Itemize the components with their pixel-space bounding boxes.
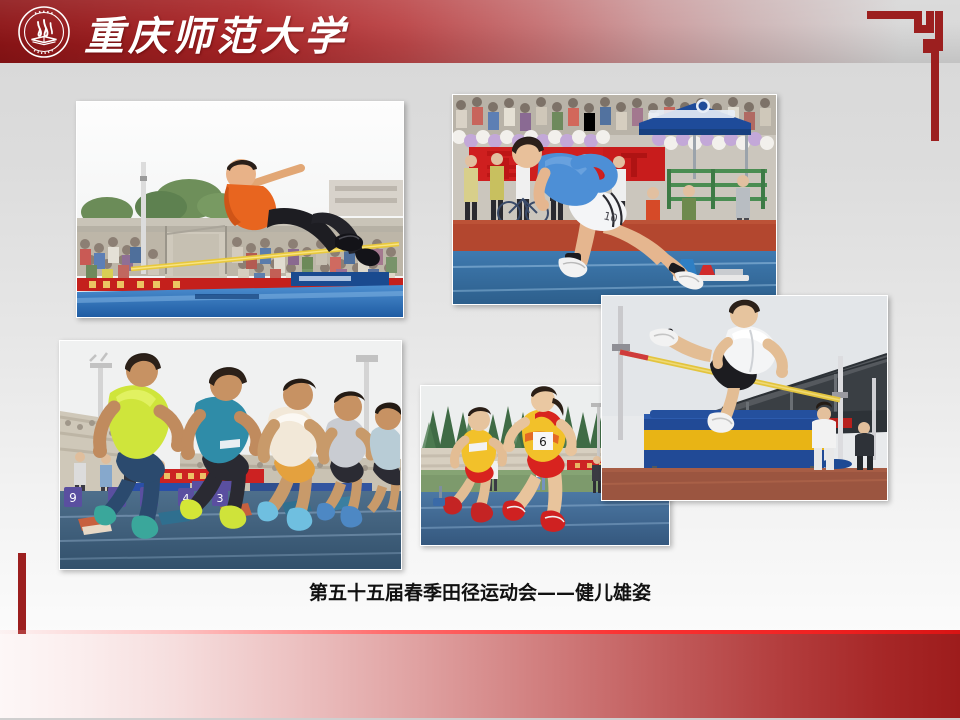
chinese-meander-corner-top-right — [867, 11, 943, 145]
svg-text:6: 6 — [539, 435, 547, 449]
photo-high-jump-white[interactable] — [601, 295, 888, 501]
svg-text:3: 3 — [217, 492, 224, 505]
university-name-title: 重庆师范大学 — [84, 5, 348, 60]
university-seal-icon — [18, 6, 70, 58]
svg-text:9: 9 — [69, 491, 77, 505]
photo-mass-start-men[interactable]: 9 6 5 4 3 — [59, 340, 402, 570]
photo-sprint-start-blue[interactable]: 10 — [452, 94, 777, 305]
photo-high-jump-orange[interactable] — [76, 101, 404, 318]
bottom-gradient-band — [0, 634, 960, 718]
slide-caption: 第五十五届春季田径运动会——健儿雄姿 — [0, 578, 960, 605]
presentation-slide: 重庆师范大学 — [0, 0, 960, 720]
